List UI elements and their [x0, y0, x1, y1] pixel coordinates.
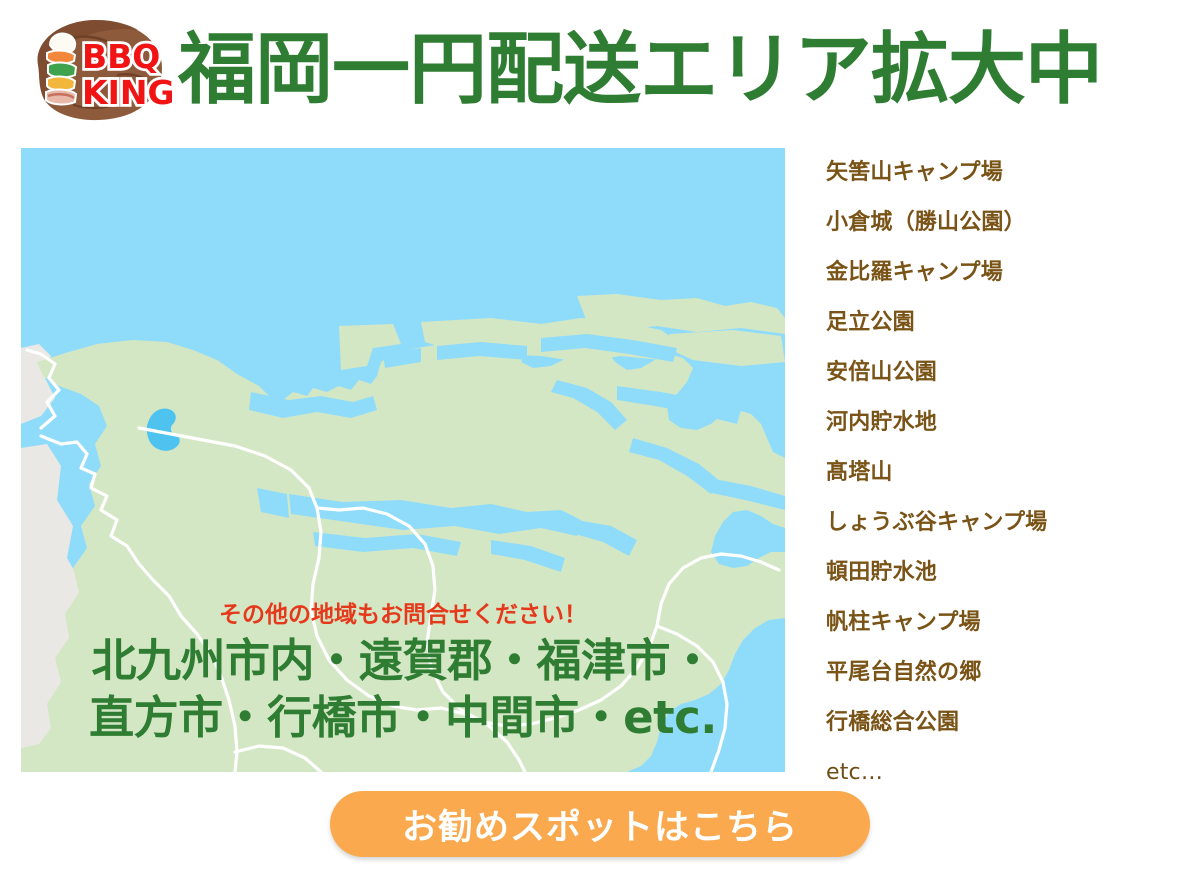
page-header: BBQ KING 福岡一円配送エリア拡大中: [0, 0, 1200, 140]
map-area-line-1: 北九州市内・遠賀郡・福津市・: [21, 632, 785, 689]
list-item: 平尾台自然の郷: [826, 648, 1186, 698]
list-item: 矢筈山キャンプ場: [826, 148, 1186, 198]
recommended-spots-button[interactable]: お勧めスポットはこちら: [330, 791, 870, 857]
map-area-list: 北九州市内・遠賀郡・福津市・ 直方市・行橋市・中間市・etc.: [21, 632, 785, 746]
list-item: 帆柱キャンプ場: [826, 598, 1186, 648]
list-item: 髙塔山: [826, 448, 1186, 498]
map-contact-note: その他の地域もお問合せください！: [21, 595, 785, 629]
recommended-spot-list: 矢筈山キャンプ場 小倉城（勝山公園） 金比羅キャンプ場 足立公園 安倍山公園 河…: [826, 148, 1186, 788]
list-item: 足立公園: [826, 298, 1186, 348]
page-title: 福岡一円配送エリア拡大中: [178, 31, 1102, 109]
list-item: しょうぶ谷キャンプ場: [826, 498, 1186, 548]
logo-line1: BBQ: [82, 37, 160, 76]
list-item: 河内貯水地: [826, 398, 1186, 448]
delivery-area-map: その他の地域もお問合せください！ 北九州市内・遠賀郡・福津市・ 直方市・行橋市・…: [21, 148, 785, 772]
list-item: 頓田貯水池: [826, 548, 1186, 598]
list-item: 小倉城（勝山公園）: [826, 198, 1186, 248]
logo-graphic: BBQ KING: [22, 13, 172, 128]
list-item: 行橋総合公園: [826, 698, 1186, 748]
skewer-icon: [46, 33, 76, 104]
list-item-etc: etc…: [826, 748, 1186, 798]
list-item: 金比羅キャンプ場: [826, 248, 1186, 298]
bbq-king-logo: BBQ KING: [22, 13, 172, 128]
logo-line2: KING: [82, 73, 172, 112]
list-item: 安倍山公園: [826, 348, 1186, 398]
map-area-line-2: 直方市・行橋市・中間市・etc.: [21, 689, 785, 746]
